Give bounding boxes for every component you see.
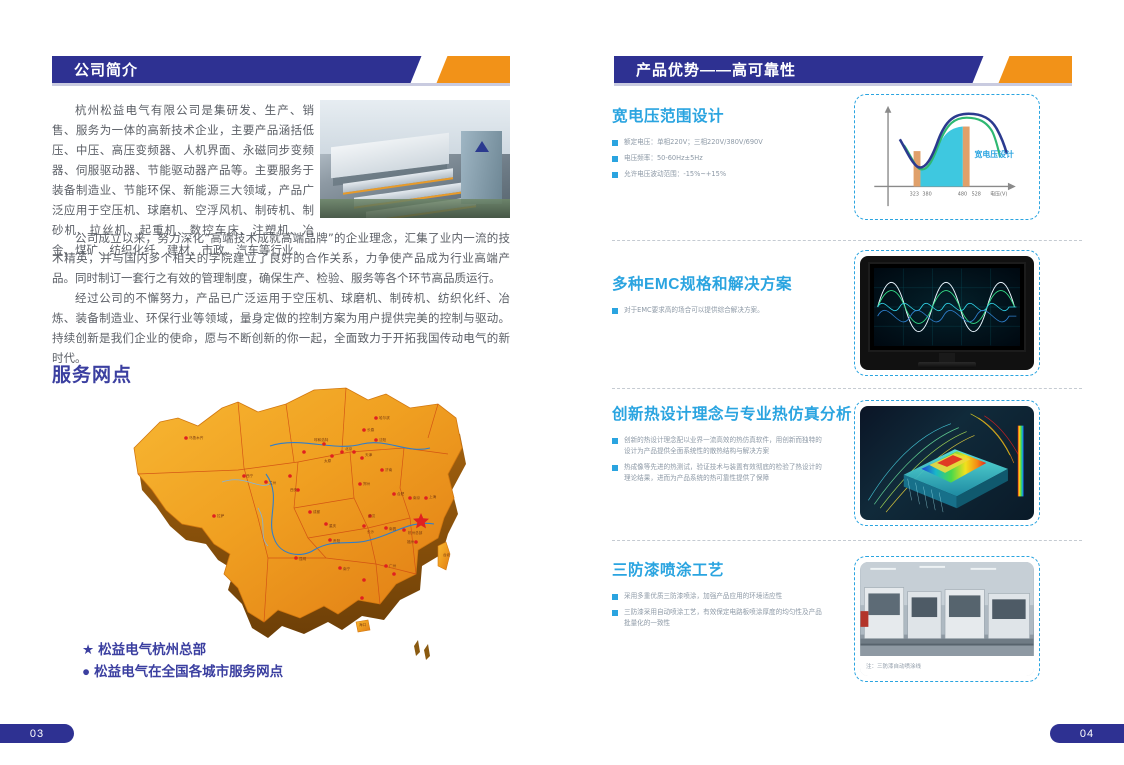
bullet-item: 额定电压：单相220V；三相220V/380V/690V	[612, 137, 822, 148]
chart-tick-380: 380	[922, 191, 931, 197]
emc-panel-inner	[860, 256, 1034, 370]
svg-text:哈尔滨: 哈尔滨	[379, 415, 390, 420]
chart-x-axis-label: 电压(V)	[990, 190, 1007, 197]
bullet-item: 电压频率：50-60Hz±5Hz	[612, 153, 822, 164]
thermal-color-scale	[1018, 426, 1024, 497]
factory-aerial-photo	[320, 100, 510, 218]
machine-2-window	[912, 597, 938, 617]
feature-2-bullets: 对于EMC要求高的场合可以提供综合解决方案。	[612, 305, 822, 316]
chart-annotation: 宽电压设计	[974, 149, 1014, 159]
svg-text:郑州: 郑州	[363, 481, 371, 486]
divider-3	[612, 540, 1082, 541]
intro-paragraph-2: 公司成立以来，努力深化“高端技术成就高端品牌”的企业理念，汇集了业内一流的技术精…	[52, 228, 510, 288]
monitor-stand	[918, 362, 976, 368]
svg-text:合肥: 合肥	[397, 491, 405, 496]
photo-company-logo	[475, 141, 489, 152]
left-page: 公司简介 杭州松益电气有限公司是集研发、生产、销售、服务为一体的高新技术企业，主…	[0, 0, 562, 765]
feature-3-bullets: 创新的热设计理念配以业界一流高效的热仿真软件，用创新而独特的设计为产品提供全面系…	[612, 435, 822, 484]
bullet-item: 创新的热设计理念配以业界一流高效的热仿真软件，用创新而独特的设计为产品提供全面系…	[612, 435, 822, 457]
svg-text:济南: 济南	[385, 467, 393, 472]
svg-text:重庆: 重庆	[329, 523, 337, 528]
svg-text:沈阳: 沈阳	[379, 437, 387, 442]
bullet-square-icon	[612, 594, 618, 600]
right-page-header-banner: 产品优势——高可靠性	[614, 56, 1072, 83]
photo-caption: 注：三防漆自动喷涂线	[866, 662, 921, 670]
map-legend-hq-label: 松益电气杭州总部	[98, 642, 206, 657]
svg-text:太原: 太原	[324, 458, 332, 463]
voltage-range-chart: 323 380 480 528 电压(V) 宽电压设计	[860, 100, 1034, 214]
divider-2	[612, 388, 1082, 389]
bullet-square-icon	[612, 610, 618, 616]
left-page-header-banner: 公司简介	[52, 56, 510, 83]
oscilloscope-monitor	[860, 256, 1034, 370]
map-legend-net-label: 松益电气在全国各城市服务网点	[94, 664, 283, 679]
svg-text:福州: 福州	[407, 539, 415, 544]
coating-panel-inner: 注：三防漆自动喷涂线	[860, 562, 1034, 676]
bullet-text: 三防漆采用自动喷涂工艺，有效保定电路板喷涂厚度的均匀性及产品批量化的一致性	[624, 607, 822, 629]
right-header-underline	[614, 83, 1072, 86]
china-map-svg: 乌鲁木齐 哈尔滨 长春 沈阳 呼和浩特 北京 天津 太原 西宁 兰州 济南 郑州…	[118, 378, 488, 678]
feature-4-bullets: 采用多重优质三防漆喷涂，加强产品应用的环境适应性 三防漆采用自动喷涂工艺，有效保…	[612, 591, 822, 629]
bullet-text: 对于EMC要求高的场合可以提供综合解决方案。	[624, 305, 764, 316]
chart-right-band	[963, 127, 970, 187]
bullet-square-icon	[612, 465, 618, 471]
machine-3-window	[949, 595, 980, 617]
voltage-chart-inner: 323 380 480 528 电压(V) 宽电压设计	[860, 100, 1034, 214]
bullet-square-icon	[612, 438, 618, 444]
chart-tick-528: 528	[972, 191, 981, 197]
machine-4-window	[992, 599, 1025, 619]
svg-text:昆明: 昆明	[299, 556, 307, 561]
voltage-range-chart-panel: 323 380 480 528 电压(V) 宽电压设计	[854, 94, 1040, 220]
bullet-text: 热成像等先进的热测试，验证技术与装置有效彻底的检验了热设计的理论结果，进而为产品…	[624, 462, 822, 484]
page-number-right: 04	[1050, 724, 1124, 743]
chart-x-arrow	[1008, 183, 1016, 190]
svg-text:南京: 南京	[413, 495, 421, 500]
svg-text:上海: 上海	[429, 494, 437, 499]
svg-text:杭州总部: 杭州总部	[408, 530, 423, 535]
conveyor	[861, 639, 1034, 644]
brochure-spread: 公司简介 杭州松益电气有限公司是集研发、生产、销售、服务为一体的高新技术企业，主…	[0, 0, 1124, 765]
bullet-square-icon	[612, 172, 618, 178]
chart-tick-323: 323	[910, 191, 919, 197]
svg-text:呼和浩特: 呼和浩特	[314, 437, 329, 442]
photo-office-tower	[461, 131, 503, 204]
china-service-map: 乌鲁木齐 哈尔滨 长春 沈阳 呼和浩特 北京 天津 太原 西宁 兰州 济南 郑州…	[118, 378, 488, 678]
bullet-text: 电压频率：50-60Hz±5Hz	[624, 153, 703, 164]
page-number-left: 03	[0, 724, 74, 743]
coating-line-photo-panel: 注：三防漆自动喷涂线	[854, 556, 1040, 682]
svg-text:武汉: 武汉	[368, 513, 376, 518]
bullet-square-icon	[612, 308, 618, 314]
svg-text:乌鲁木齐: 乌鲁木齐	[189, 435, 204, 440]
left-header-bar-fill	[152, 56, 422, 83]
map-legend-headquarters: ★松益电气杭州总部	[82, 638, 206, 658]
monitor-bezel	[868, 262, 1026, 352]
thermal-simulation-panel	[854, 400, 1040, 526]
bullet-item: 采用多重优质三防漆喷涂，加强产品应用的环境适应性	[612, 591, 822, 602]
red-cabinet	[861, 611, 869, 627]
svg-text:贵阳: 贵阳	[333, 538, 341, 543]
thermal-panel-inner	[860, 406, 1034, 520]
right-header-orange-block	[998, 56, 1072, 83]
feature-1-bullets: 额定电压：单相220V；三相220V/380V/690V 电压频率：50-60H…	[612, 137, 822, 180]
svg-text:北京: 北京	[345, 446, 353, 451]
bullet-text: 额定电压：单相220V；三相220V/380V/690V	[624, 137, 763, 148]
bullet-text: 采用多重优质三防漆喷涂，加强产品应用的环境适应性	[624, 591, 782, 602]
divider-1	[612, 240, 1082, 241]
thermal-sim-svg	[860, 406, 1034, 520]
photo-landscaping	[320, 199, 510, 218]
bullet-item: 允许电压波动范围：-15%~+15%	[612, 169, 822, 180]
map-south-sea-islands	[414, 640, 430, 660]
chart-y-arrow	[885, 106, 892, 113]
svg-text:海口: 海口	[359, 622, 367, 627]
bullet-item: 热成像等先进的热测试，验证技术与装置有效彻底的检验了热设计的理论结果，进而为产品…	[612, 462, 822, 484]
star-icon: ★	[82, 642, 94, 658]
left-header-underline	[52, 83, 510, 86]
svg-text:西安: 西安	[290, 487, 298, 492]
svg-text:长春: 长春	[367, 427, 375, 432]
emc-waveform-panel	[854, 250, 1040, 376]
coating-line-photo: 注：三防漆自动喷涂线	[860, 562, 1034, 676]
svg-text:拉萨: 拉萨	[217, 513, 225, 518]
svg-text:天津: 天津	[365, 452, 373, 457]
bullet-item: 对于EMC要求高的场合可以提供综合解决方案。	[612, 305, 822, 316]
svg-text:台北: 台北	[443, 552, 451, 557]
bullet-item: 三防漆采用自动喷涂工艺，有效保定电路板喷涂厚度的均匀性及产品批量化的一致性	[612, 607, 822, 629]
svg-text:成都: 成都	[313, 509, 321, 514]
conveyor-rail	[861, 644, 1034, 646]
bullet-text: 创新的热设计理念配以业界一流高效的热仿真软件，用创新而独特的设计为产品提供全面系…	[624, 435, 822, 457]
scope-trace-blue	[878, 310, 1017, 322]
right-header-title: 产品优势——高可靠性	[614, 56, 810, 83]
right-header-bar-fill	[810, 56, 984, 83]
dot-icon: ●	[82, 664, 90, 679]
left-header-orange-block	[436, 56, 510, 83]
intro-paragraph-3: 经过公司的不懈努力，产品已广泛运用于空压机、球磨机、制砖机、纺织化纤、冶炼、装备…	[52, 288, 510, 368]
svg-text:兰州: 兰州	[269, 480, 277, 485]
right-page: 产品优势——高可靠性 宽电压范围设计 额定电压：单相220V；三相220V/38…	[562, 0, 1124, 765]
svg-text:西宁: 西宁	[246, 473, 254, 478]
thermal-simulation-image	[860, 406, 1034, 520]
chart-tick-480: 480	[958, 191, 967, 197]
bullet-square-icon	[612, 140, 618, 146]
emc-waveform-svg	[874, 268, 1020, 346]
map-legend-network: ●松益电气在全国各城市服务网点	[82, 660, 283, 680]
monitor-screen	[874, 268, 1020, 346]
left-header-title: 公司简介	[52, 56, 152, 83]
svg-text:南宁: 南宁	[343, 566, 351, 571]
thermal-device-body	[904, 449, 1008, 508]
svg-text:南昌: 南昌	[389, 526, 397, 531]
bullet-text: 允许电压波动范围：-15%~+15%	[624, 169, 726, 180]
svg-text:长沙: 长沙	[367, 529, 375, 534]
photo-caption-bar: 注：三防漆自动喷涂线	[860, 656, 1034, 676]
machine-1-window	[868, 593, 899, 615]
bullet-square-icon	[612, 156, 618, 162]
svg-text:广州: 广州	[389, 563, 397, 568]
